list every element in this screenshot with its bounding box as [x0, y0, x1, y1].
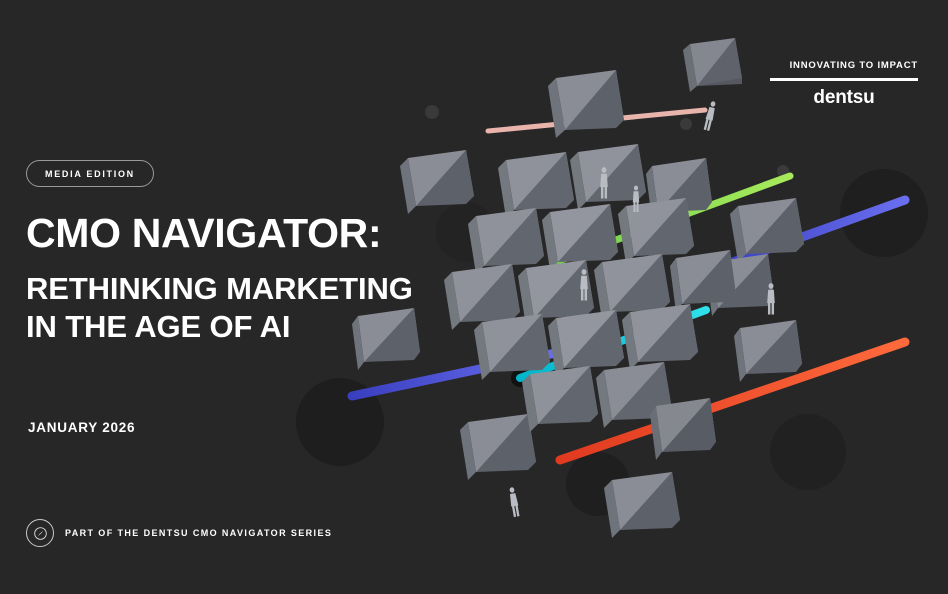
human-figures — [508, 101, 775, 518]
page-subtitle-line-2: IN THE AGE OF AI — [26, 308, 506, 346]
brand-divider — [770, 78, 918, 81]
cover-page: INNOVATING TO IMPACT dentsu MEDIA EDITIO… — [0, 0, 948, 594]
brand-tagline: INNOVATING TO IMPACT — [770, 60, 918, 71]
page-title: CMO NAVIGATOR: — [26, 212, 506, 255]
page-subtitle: RETHINKING MARKETING IN THE AGE OF AI — [26, 270, 506, 347]
title-block: CMO NAVIGATOR: RETHINKING MARKETING IN T… — [26, 212, 506, 347]
page-subtitle-line-1: RETHINKING MARKETING — [26, 270, 506, 308]
publication-date: JANUARY 2026 — [28, 420, 135, 435]
brand-lockup: INNOVATING TO IMPACT dentsu — [770, 60, 918, 109]
brand-name: dentsu — [770, 87, 918, 109]
edition-badge: MEDIA EDITION — [26, 160, 154, 187]
footer: PART OF THE DENTSU CMO NAVIGATOR SERIES — [26, 519, 332, 547]
compass-badge-icon — [26, 519, 54, 547]
footer-label: PART OF THE DENTSU CMO NAVIGATOR SERIES — [65, 528, 332, 538]
